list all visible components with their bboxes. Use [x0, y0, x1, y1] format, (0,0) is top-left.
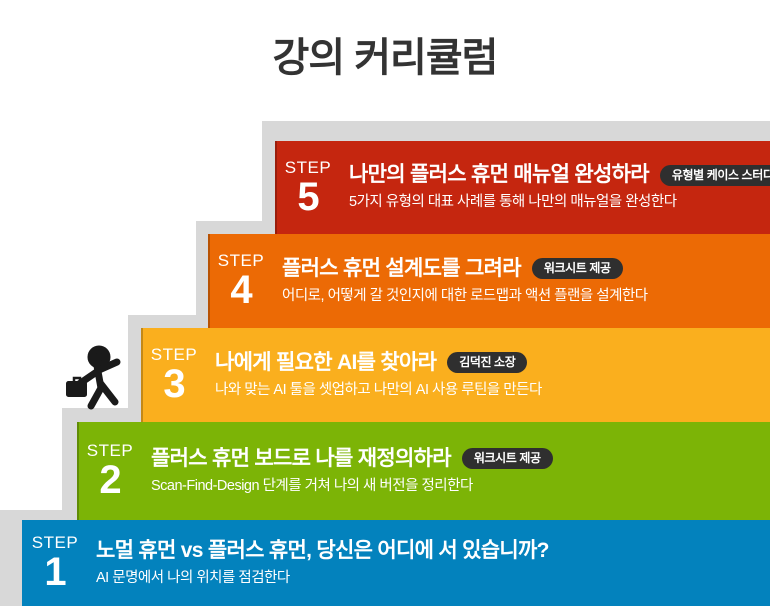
step-number-1: 1	[22, 552, 88, 592]
step-marker-4: STEP 4	[208, 252, 276, 310]
step-badge-3: 김덕진 소장	[447, 352, 527, 373]
step-marker-3: STEP 3	[141, 346, 209, 404]
step-subline-3: 나와 맞는 AI 툴을 셋업하고 나만의 AI 사용 루틴을 만든다	[215, 382, 770, 399]
step-headline-1: 노멀 휴먼 vs 플러스 휴먼, 당신은 어디에 서 있습니까?	[96, 539, 549, 563]
step-riser-5-top	[262, 121, 770, 142]
climbing-person-icon	[57, 344, 149, 419]
step-text-4: 플러스 휴먼 설계도를 그려라 워크시트 제공 어디로, 어떻게 갈 것인지에 …	[276, 257, 770, 306]
step-subline-2: Scan-Find-Design 단계를 거쳐 나의 새 버전을 정리한다	[151, 478, 770, 495]
step-number-2: 2	[77, 460, 143, 500]
step-row-3: STEP 3 나에게 필요한 AI를 찾아라 김덕진 소장 나와 맞는 AI 툴…	[141, 328, 770, 422]
step-label-4: STEP	[208, 252, 274, 269]
step-number-3: 3	[141, 364, 207, 404]
step-number-4: 4	[208, 270, 274, 310]
step-headline-row-5: 나만의 플러스 휴먼 매뉴얼 완성하라 유형별 케이스 스터디	[349, 163, 770, 187]
step-text-1: 노멀 휴먼 vs 플러스 휴먼, 당신은 어디에 서 있습니까? AI 문명에서…	[90, 539, 770, 588]
step-label-1: STEP	[22, 534, 88, 551]
step-headline-row-1: 노멀 휴먼 vs 플러스 휴먼, 당신은 어디에 서 있습니까?	[96, 539, 770, 563]
step-badge-5: 유형별 케이스 스터디	[660, 165, 770, 186]
step-subline-5: 5가지 유형의 대표 사례를 통해 나만의 매뉴얼을 완성한다	[349, 194, 770, 211]
step-row-2: STEP 2 플러스 휴먼 보드로 나를 재정의하라 워크시트 제공 Scan-…	[77, 422, 770, 520]
step-subline-4: 어디로, 어떻게 갈 것인지에 대한 로드맵과 액션 플랜을 설계한다	[282, 288, 770, 305]
step-row-1: STEP 1 노멀 휴먼 vs 플러스 휴먼, 당신은 어디에 서 있습니까? …	[22, 520, 770, 606]
step-number-5: 5	[275, 177, 341, 217]
step-badge-2: 워크시트 제공	[462, 448, 553, 469]
step-riser-2-side	[62, 408, 78, 521]
step-badge-4: 워크시트 제공	[532, 258, 623, 279]
step-text-5: 나만의 플러스 휴먼 매뉴얼 완성하라 유형별 케이스 스터디 5가지 유형의 …	[343, 163, 770, 212]
step-marker-5: STEP 5	[275, 159, 343, 217]
step-headline-5: 나만의 플러스 휴먼 매뉴얼 완성하라	[349, 163, 649, 187]
step-headline-row-3: 나에게 필요한 AI를 찾아라 김덕진 소장	[215, 351, 770, 375]
step-headline-row-2: 플러스 휴먼 보드로 나를 재정의하라 워크시트 제공	[151, 447, 770, 471]
step-row-4: STEP 4 플러스 휴먼 설계도를 그려라 워크시트 제공 어디로, 어떻게 …	[208, 234, 770, 328]
step-label-3: STEP	[141, 346, 207, 363]
step-marker-2: STEP 2	[77, 442, 145, 500]
step-headline-3: 나에게 필요한 AI를 찾아라	[215, 351, 436, 375]
step-label-2: STEP	[77, 442, 143, 459]
step-row-5: STEP 5 나만의 플러스 휴먼 매뉴얼 완성하라 유형별 케이스 스터디 5…	[275, 141, 770, 234]
step-text-3: 나에게 필요한 AI를 찾아라 김덕진 소장 나와 맞는 AI 툴을 셋업하고 …	[209, 351, 770, 400]
step-headline-row-4: 플러스 휴먼 설계도를 그려라 워크시트 제공	[282, 257, 770, 281]
step-label-5: STEP	[275, 159, 341, 176]
step-riser-1-side	[0, 510, 23, 606]
curriculum-staircase: STEP 5 나만의 플러스 휴먼 매뉴얼 완성하라 유형별 케이스 스터디 5…	[0, 0, 770, 606]
step-text-2: 플러스 휴먼 보드로 나를 재정의하라 워크시트 제공 Scan-Find-De…	[145, 447, 770, 496]
step-riser-5-side	[262, 121, 276, 235]
step-headline-2: 플러스 휴먼 보드로 나를 재정의하라	[151, 447, 451, 471]
step-marker-1: STEP 1	[22, 534, 90, 592]
step-subline-1: AI 문명에서 나의 위치를 점검한다	[96, 570, 770, 587]
step-headline-4: 플러스 휴먼 설계도를 그려라	[282, 257, 521, 281]
